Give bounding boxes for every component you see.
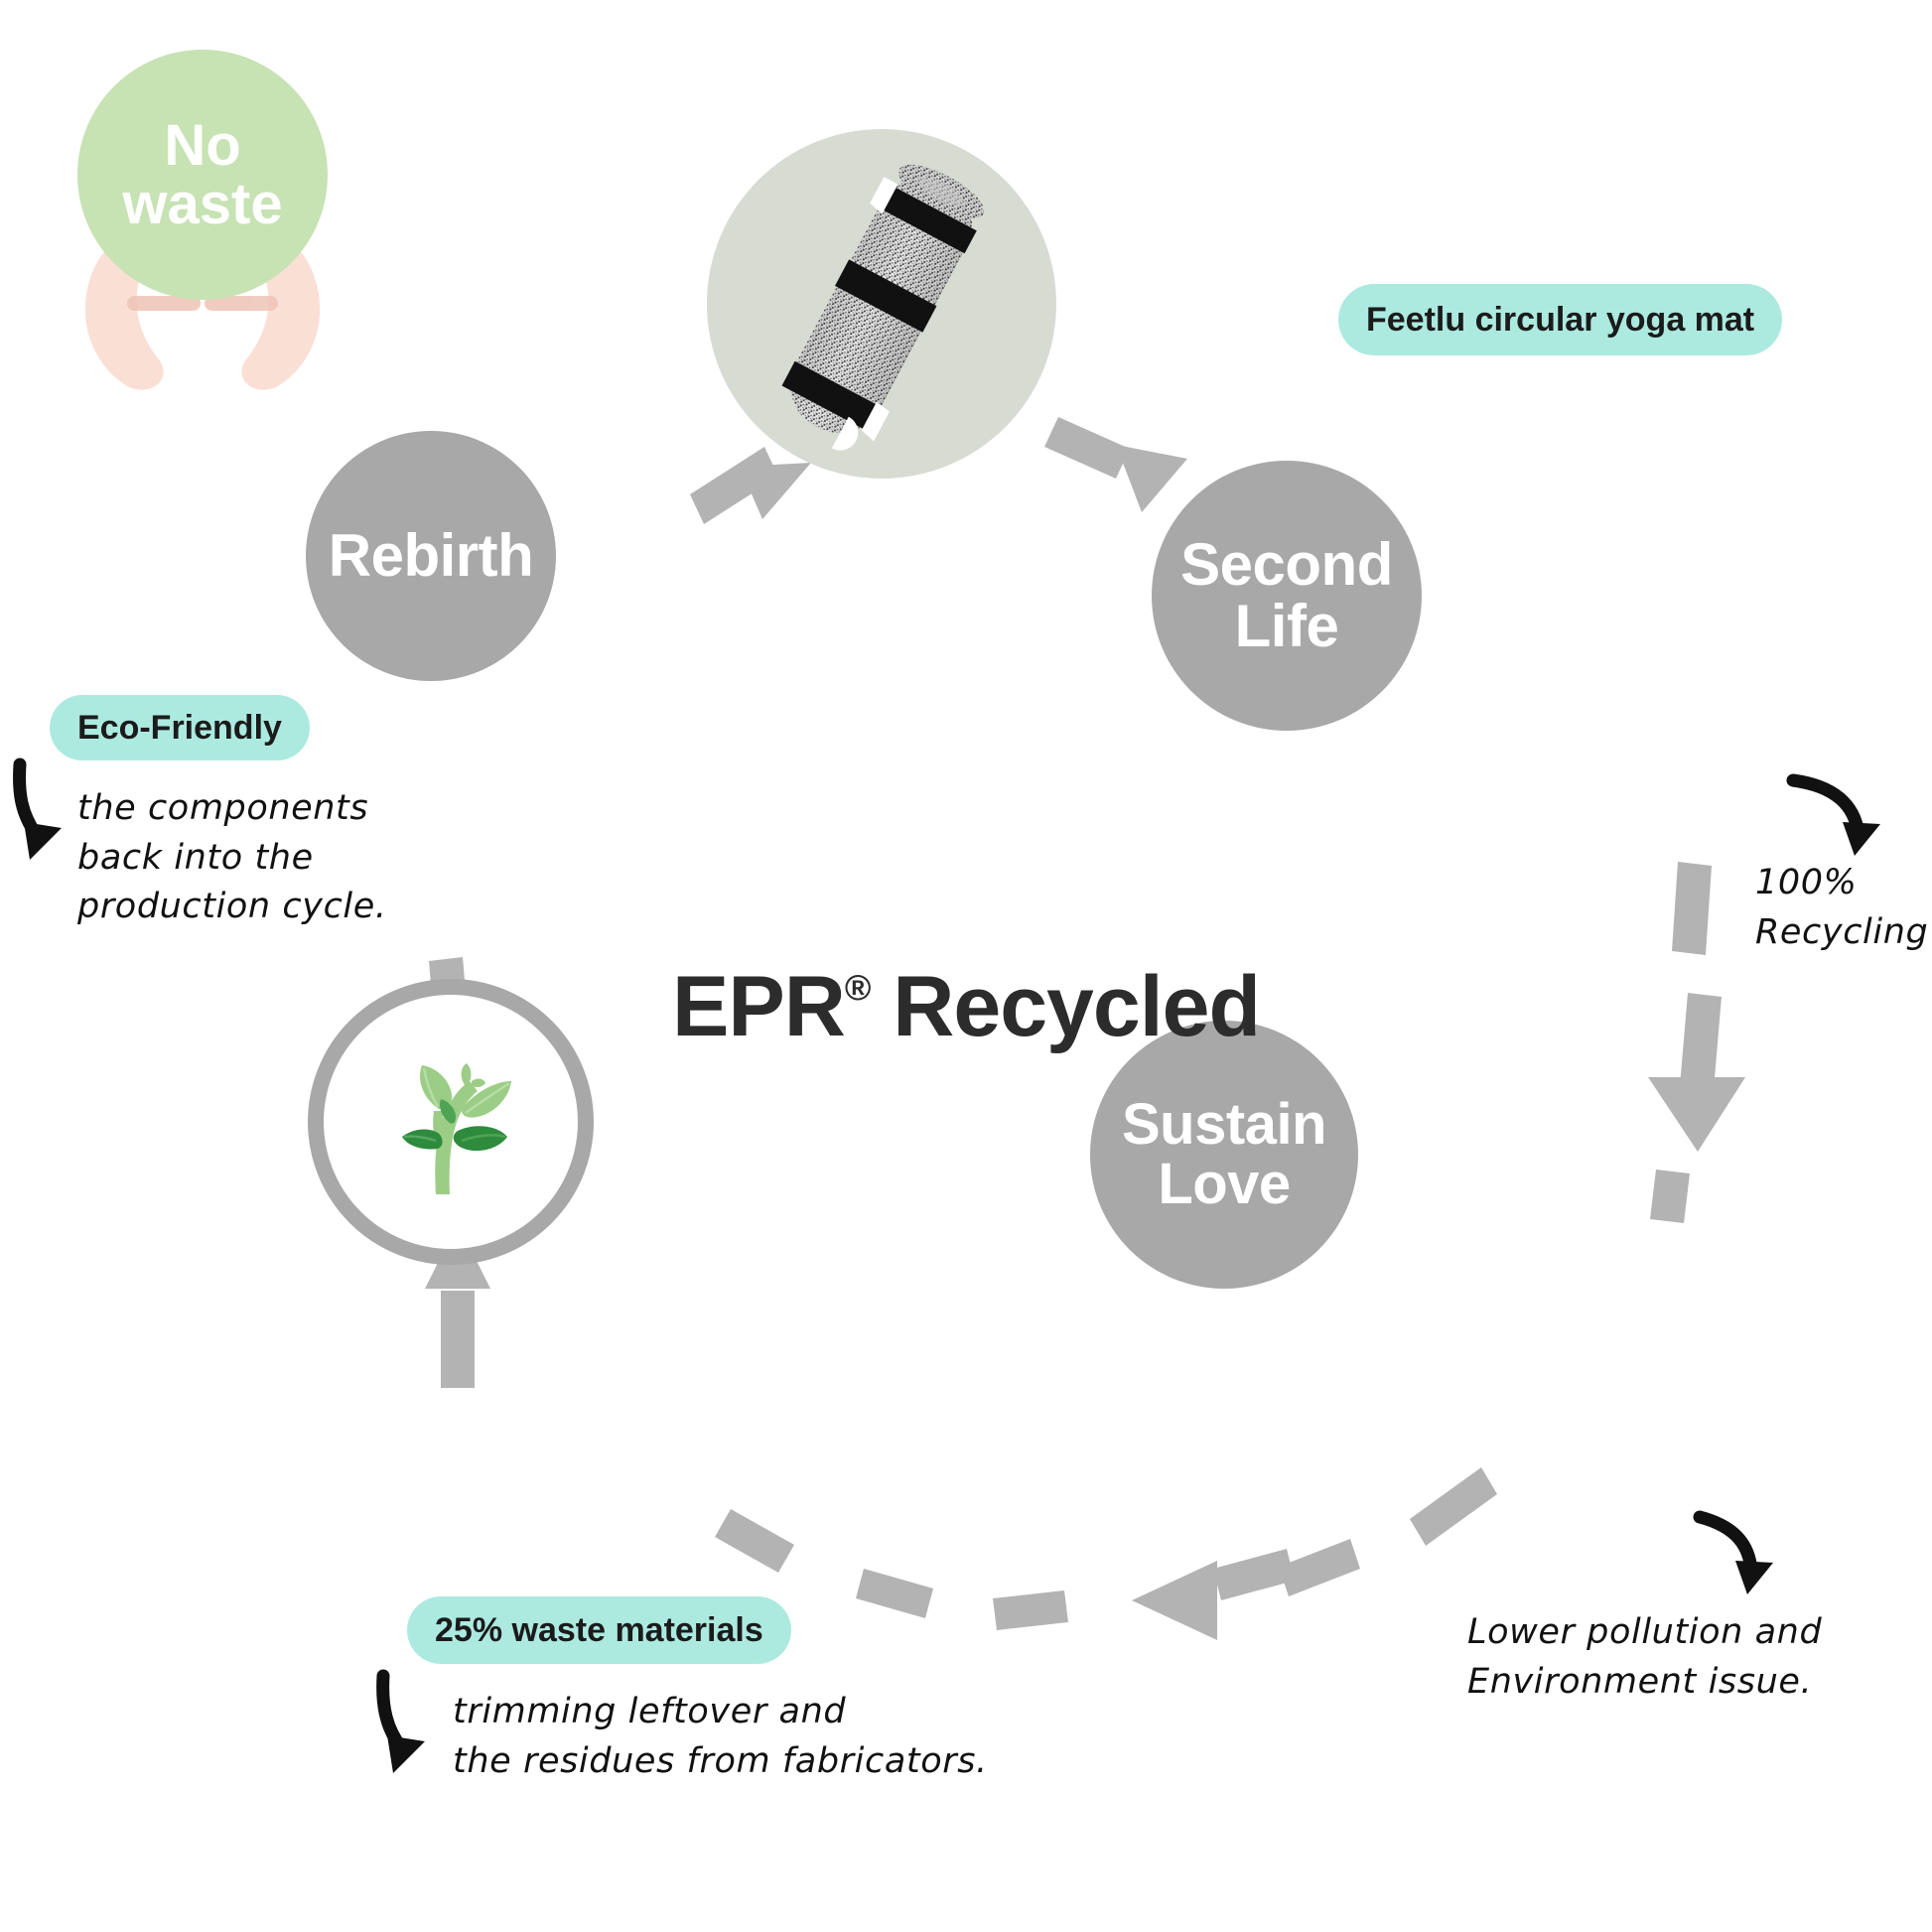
node-sustain-love-line-1: Sustain bbox=[1122, 1095, 1326, 1155]
arrow-product-to-second-life bbox=[1044, 417, 1187, 512]
handdrawn-arrow-pollution bbox=[1700, 1517, 1773, 1594]
no-waste-badge: No waste bbox=[77, 50, 328, 300]
node-rebirth-label: Rebirth bbox=[329, 525, 534, 587]
node-sustain-love[interactable]: Sustain Love bbox=[1090, 1021, 1358, 1289]
handdrawn-arrow-eco bbox=[20, 764, 62, 860]
annotation-recycling: 100% Recycling bbox=[1755, 859, 1932, 957]
annotation-waste-materials: trimming leftover and the residues from … bbox=[453, 1688, 1058, 1786]
sprout-plant-icon bbox=[366, 1037, 535, 1206]
handdrawn-arrow-waste bbox=[383, 1676, 425, 1773]
node-second-life-line-2: Life bbox=[1180, 596, 1393, 657]
rolled-yoga-mat-icon bbox=[707, 129, 1056, 479]
page-title: EPR® Recycled bbox=[0, 958, 1932, 1056]
node-sustain-love-line-2: Love bbox=[1122, 1155, 1326, 1214]
annotation-eco-friendly: the components back into the production … bbox=[77, 784, 405, 932]
page-title-main: EPR bbox=[672, 959, 845, 1054]
no-waste-line-1: No bbox=[164, 116, 240, 175]
pill-product-name[interactable]: Feetlu circular yoga mat bbox=[1338, 284, 1782, 355]
pill-waste-materials-label: 25% waste materials bbox=[435, 1611, 763, 1650]
registered-trademark-icon: ® bbox=[845, 967, 871, 1008]
infographic-canvas: No waste bbox=[0, 0, 1932, 1932]
pill-eco-friendly[interactable]: Eco-Friendly bbox=[50, 695, 310, 760]
no-waste-label: No waste bbox=[77, 50, 328, 300]
no-waste-line-2: waste bbox=[122, 175, 282, 233]
node-rebirth[interactable]: Rebirth bbox=[306, 431, 556, 681]
node-second-life-line-1: Second bbox=[1180, 534, 1393, 596]
pill-eco-friendly-label: Eco-Friendly bbox=[77, 709, 282, 748]
handdrawn-arrow-recycling bbox=[1793, 780, 1880, 856]
product-image-circle[interactable] bbox=[707, 129, 1056, 479]
annotation-pollution: Lower pollution and Environment issue. bbox=[1467, 1608, 1884, 1707]
pill-product-name-label: Feetlu circular yoga mat bbox=[1366, 301, 1754, 340]
page-title-suffix: Recycled bbox=[893, 959, 1260, 1054]
pill-waste-materials[interactable]: 25% waste materials bbox=[407, 1596, 791, 1664]
node-second-life[interactable]: Second Life bbox=[1152, 461, 1422, 731]
arrow-sustain-love-to-sprout bbox=[715, 1467, 1497, 1640]
